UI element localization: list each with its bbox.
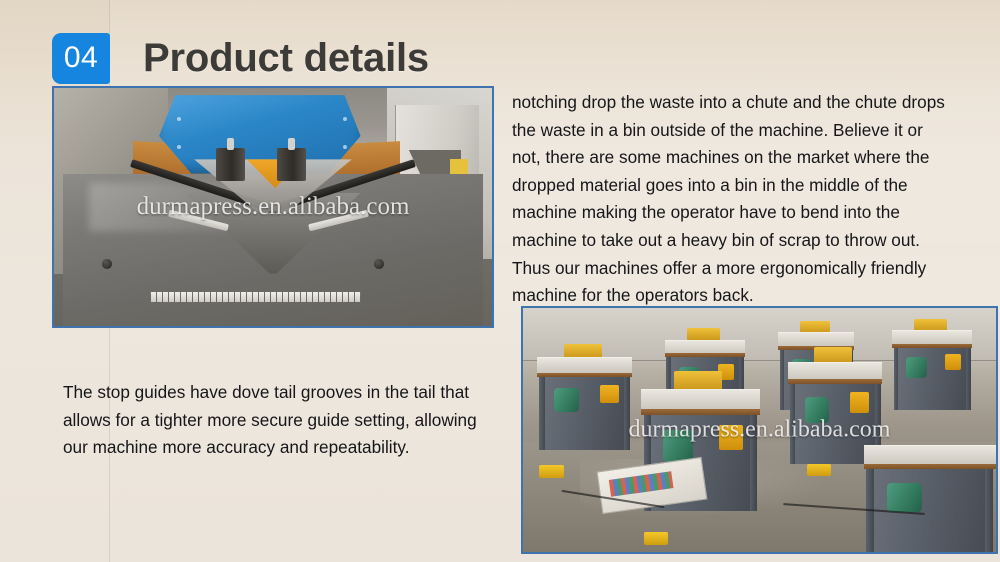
page-title: Product details xyxy=(143,36,429,81)
photo-1-table-hole xyxy=(374,259,384,269)
photo-workshop-machines-row: durmapress.en.alibaba.com xyxy=(521,306,998,554)
photo-2-yellow-guard xyxy=(600,385,619,404)
photo-1-measuring-scale xyxy=(150,292,360,303)
photo-1-cylinder-rod xyxy=(227,138,234,150)
photo-2-motor xyxy=(887,483,921,512)
photo-2-artwork: durmapress.en.alibaba.com xyxy=(523,308,996,552)
photo-1-bolt xyxy=(343,117,347,121)
photo-2-machine xyxy=(892,330,972,411)
photo-2-yellow-guard xyxy=(945,354,961,370)
photo-2-motor xyxy=(554,388,579,412)
photo-1-bolt xyxy=(177,145,181,149)
description-paragraph-right: notching drop the waste into a chute and… xyxy=(512,89,950,310)
photo-corner-notching-machine-closeup: durmapress.en.alibaba.com xyxy=(52,86,494,328)
description-paragraph-left: The stop guides have dove tail grooves i… xyxy=(63,379,493,462)
photo-1-bolt xyxy=(177,117,181,121)
photo-2-machine-leg xyxy=(623,377,630,449)
photo-2-machine xyxy=(864,445,996,552)
photo-2-foot-pedal xyxy=(644,532,669,544)
photo-2-yellow-guard xyxy=(850,392,869,412)
photo-2-motor xyxy=(906,357,927,378)
photo-2-yellow-guard xyxy=(719,425,743,449)
photo-1-warning-label xyxy=(450,159,468,173)
photo-2-machine-leg xyxy=(965,348,971,411)
photo-2-foot-pedal xyxy=(539,465,564,477)
photo-2-motor xyxy=(805,397,830,424)
section-number-badge: 04 xyxy=(52,33,110,84)
photo-2-machine-table xyxy=(864,445,996,466)
photo-2-machine-leg xyxy=(749,415,757,510)
photo-1-cylinder xyxy=(277,148,305,181)
photo-2-machine xyxy=(537,357,632,450)
photo-2-machine-leg xyxy=(984,469,993,552)
photo-2-machine-table xyxy=(641,389,759,412)
photo-1-cylinder xyxy=(216,148,244,181)
slide-header: 04 Product details xyxy=(52,32,429,84)
photo-2-foot-pedal xyxy=(807,464,832,476)
photo-1-artwork: durmapress.en.alibaba.com xyxy=(54,88,492,326)
slide-canvas: 04 Product details xyxy=(0,0,1000,562)
photo-1-cylinder-rod xyxy=(288,138,295,150)
photo-2-motor xyxy=(663,430,694,462)
